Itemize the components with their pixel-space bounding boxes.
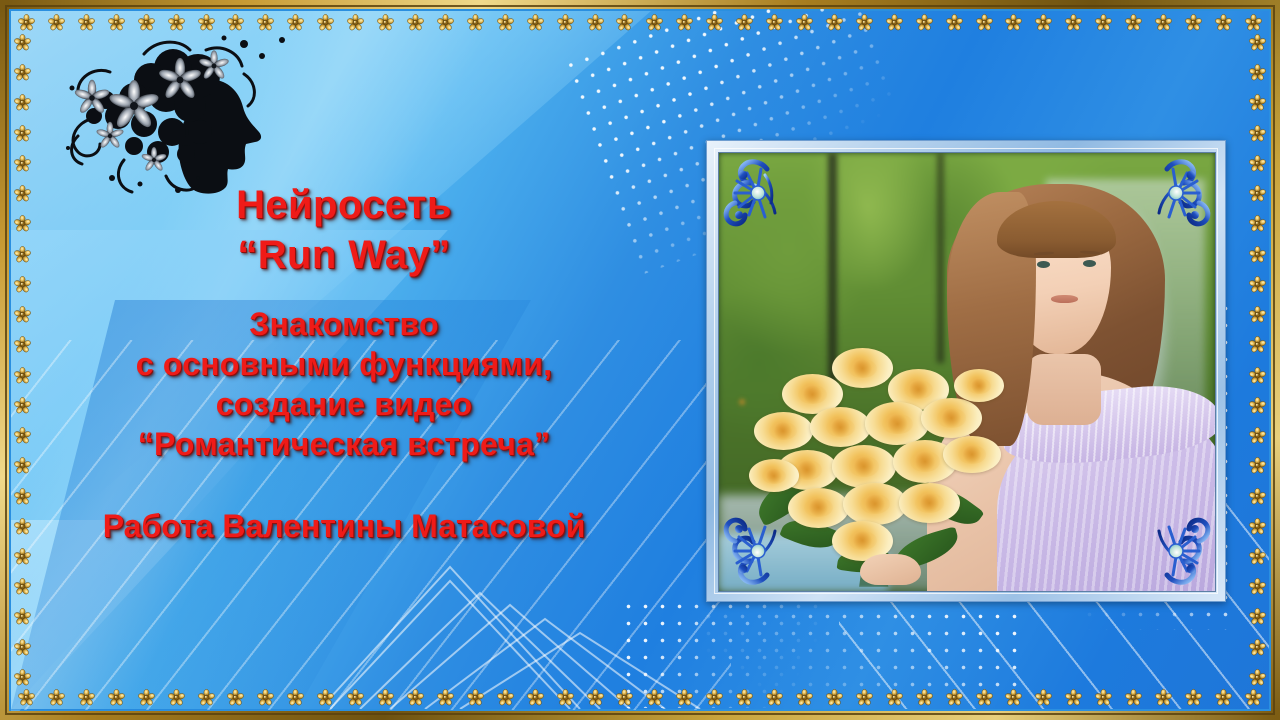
gold-rosette-icon [616, 14, 633, 31]
gold-rosette-icon [646, 689, 663, 706]
gold-rosette-icon [1249, 94, 1266, 111]
gold-rosette-icon [14, 518, 31, 535]
gold-rosette-icon [916, 689, 933, 706]
gold-rosette-icon [287, 689, 304, 706]
rose [843, 483, 907, 526]
gold-rosette-icon [1249, 155, 1266, 172]
gold-rosette-icon [437, 14, 454, 31]
gold-rosette-icon [14, 578, 31, 595]
presentation-slide: Нейросеть “Run Way” Знакомство с основны… [0, 0, 1280, 720]
gold-rosette-icon [616, 689, 633, 706]
gold-rosette-icon [946, 689, 963, 706]
gold-rosette-icon [1245, 14, 1262, 31]
rose [899, 483, 960, 523]
gold-rosette-icon [1249, 427, 1266, 444]
gold-rosette-icon [1065, 689, 1082, 706]
gold-rosette-icon [14, 306, 31, 323]
gold-rosette-icon [198, 689, 215, 706]
subtitle-line-4: “Романтическая встреча” [24, 424, 664, 464]
gold-rosette-icon [706, 689, 723, 706]
rose [865, 402, 929, 445]
gold-rosette-icon [976, 14, 993, 31]
gold-rosette-icon [1249, 578, 1266, 595]
rose [832, 348, 893, 388]
gold-rosette-icon [377, 689, 394, 706]
gold-rosette-icon [14, 215, 31, 232]
gold-rosette-icon [1245, 689, 1262, 706]
gold-rosette-icon [1249, 125, 1266, 142]
gold-rosette-icon [646, 14, 663, 31]
gold-rosette-icon [18, 689, 35, 706]
subtitle-line-1: Знакомство [24, 304, 664, 344]
gold-rosette-icon [1249, 215, 1266, 232]
gold-rosette-icon [14, 367, 31, 384]
gold-rosette-icon [1005, 14, 1022, 31]
title-line-2: “Run Way” [24, 230, 664, 280]
gold-rosette-icon [78, 14, 95, 31]
gold-rosette-icon [108, 14, 125, 31]
gold-rosette-icon [1249, 397, 1266, 414]
woman-hand [860, 554, 921, 585]
gold-rosette-icon [676, 14, 693, 31]
gold-rosette-icon [736, 689, 753, 706]
rose [943, 436, 1001, 474]
gold-rosette-icon [467, 14, 484, 31]
gold-rosette-icon [1095, 14, 1112, 31]
rose [832, 445, 896, 488]
woman-eye-right [1083, 260, 1096, 267]
gold-rosette-icon [916, 14, 933, 31]
slide-text-block: Нейросеть “Run Way” Знакомство с основны… [24, 180, 664, 546]
gold-rosette-border-left [14, 34, 31, 686]
title-line-1: Нейросеть [24, 180, 664, 230]
gold-rosette-icon [257, 689, 274, 706]
gold-rosette-icon [317, 689, 334, 706]
gold-rosette-icon [557, 14, 574, 31]
gold-rosette-icon [377, 14, 394, 31]
gold-rosette-icon [886, 689, 903, 706]
gold-rosette-icon [138, 689, 155, 706]
gold-rosette-icon [14, 548, 31, 565]
gold-rosette-icon [1005, 689, 1022, 706]
gold-rosette-icon [14, 488, 31, 505]
gold-rosette-icon [527, 14, 544, 31]
gold-rosette-icon [1249, 367, 1266, 384]
gold-rosette-icon [14, 427, 31, 444]
gold-rosette-icon [14, 336, 31, 353]
gold-rosette-icon [14, 669, 31, 686]
gold-rosette-icon [14, 246, 31, 263]
gold-rosette-icon [796, 689, 813, 706]
gold-rosette-icon [1249, 185, 1266, 202]
gold-rosette-icon [14, 608, 31, 625]
gold-rosette-icon [826, 689, 843, 706]
gold-rosette-icon [826, 14, 843, 31]
rose [954, 369, 1004, 402]
author-credit: Работа Валентины Матасовой [24, 506, 664, 546]
gold-rosette-icon [1249, 608, 1266, 625]
gold-rosette-icon [407, 14, 424, 31]
gold-rosette-icon [467, 689, 484, 706]
gold-rosette-icon [1095, 689, 1112, 706]
gold-rosette-icon [198, 14, 215, 31]
gold-rosette-icon [1185, 689, 1202, 706]
gold-rosette-icon [676, 689, 693, 706]
yellow-rose-bouquet [749, 346, 1027, 583]
gold-rosette-icon [437, 689, 454, 706]
gold-rosette-icon [796, 14, 813, 31]
gold-rosette-icon [1249, 34, 1266, 51]
gold-rosette-icon [14, 155, 31, 172]
gold-rosette-icon [587, 14, 604, 31]
rose [749, 459, 799, 492]
gold-rosette-icon [1215, 689, 1232, 706]
gold-rosette-icon [1249, 518, 1266, 535]
gold-rosette-icon [1249, 548, 1266, 565]
gold-rosette-icon [1125, 689, 1142, 706]
gold-rosette-icon [946, 14, 963, 31]
gold-rosette-icon [1035, 689, 1052, 706]
photo-frame [706, 140, 1226, 602]
subtitle-line-2: с основными функциями, [24, 344, 664, 384]
woman-with-yellow-roses-photo [718, 152, 1216, 592]
gold-rosette-icon [1155, 689, 1172, 706]
gold-rosette-icon [587, 689, 604, 706]
gold-rosette-icon [347, 689, 364, 706]
gold-rosette-icon [168, 689, 185, 706]
gold-rosette-icon [706, 14, 723, 31]
gold-rosette-icon [736, 14, 753, 31]
gold-rosette-icon [138, 14, 155, 31]
gold-rosette-icon [227, 689, 244, 706]
gold-rosette-icon [497, 689, 514, 706]
gold-rosette-icon [527, 689, 544, 706]
gold-rosette-icon [14, 457, 31, 474]
rose [810, 407, 871, 447]
gold-rosette-icon [1249, 336, 1266, 353]
gold-rosette-icon [14, 397, 31, 414]
gold-rosette-icon [48, 14, 65, 31]
subtitle-block: Знакомство с основными функциями, создан… [24, 304, 664, 464]
gold-rosette-icon [976, 689, 993, 706]
gold-rosette-icon [14, 125, 31, 142]
gold-rosette-icon [1185, 14, 1202, 31]
gold-rosette-icon [856, 689, 873, 706]
gold-rosette-icon [497, 14, 514, 31]
gold-rosette-icon [108, 689, 125, 706]
gold-rosette-icon [1035, 14, 1052, 31]
gold-rosette-icon [14, 94, 31, 111]
subtitle-line-3: создание видео [24, 384, 664, 424]
gold-rosette-icon [14, 276, 31, 293]
gold-rosette-icon [317, 14, 334, 31]
gold-rosette-icon [1065, 14, 1082, 31]
rose [754, 412, 812, 450]
gold-rosette-icon [287, 14, 304, 31]
gold-rosette-icon [886, 14, 903, 31]
gold-rosette-icon [1249, 457, 1266, 474]
gold-rosette-icon [18, 14, 35, 31]
gold-rosette-border-right [1249, 34, 1266, 686]
woman-lips [1051, 295, 1078, 303]
gold-rosette-icon [257, 14, 274, 31]
gold-rosette-border-top [18, 14, 1262, 31]
gold-rosette-border-bottom [18, 689, 1262, 706]
gold-rosette-icon [1249, 488, 1266, 505]
gold-rosette-icon [1249, 246, 1266, 263]
gold-rosette-icon [78, 689, 95, 706]
gold-rosette-icon [14, 34, 31, 51]
rose [921, 398, 982, 438]
gold-rosette-icon [407, 689, 424, 706]
gold-rosette-icon [14, 639, 31, 656]
gold-rosette-icon [1215, 14, 1232, 31]
photo-scene [719, 153, 1215, 591]
woman-eye-left [1037, 261, 1050, 268]
gold-rosette-icon [766, 689, 783, 706]
gold-rosette-icon [48, 689, 65, 706]
gold-rosette-icon [347, 14, 364, 31]
gold-rosette-icon [1125, 14, 1142, 31]
gold-rosette-icon [227, 14, 244, 31]
gold-rosette-icon [766, 14, 783, 31]
gold-rosette-icon [1249, 639, 1266, 656]
gold-rosette-icon [856, 14, 873, 31]
gold-rosette-icon [1249, 276, 1266, 293]
gold-rosette-icon [1249, 669, 1266, 686]
gold-rosette-icon [14, 185, 31, 202]
gold-rosette-icon [1249, 306, 1266, 323]
gold-rosette-icon [557, 689, 574, 706]
gold-rosette-icon [1155, 14, 1172, 31]
tree-trunk-mid [937, 153, 944, 363]
gold-rosette-icon [168, 14, 185, 31]
gold-rosette-icon [14, 64, 31, 81]
gold-rosette-icon [1249, 64, 1266, 81]
rose [788, 488, 849, 528]
woman-neck [1027, 354, 1101, 424]
